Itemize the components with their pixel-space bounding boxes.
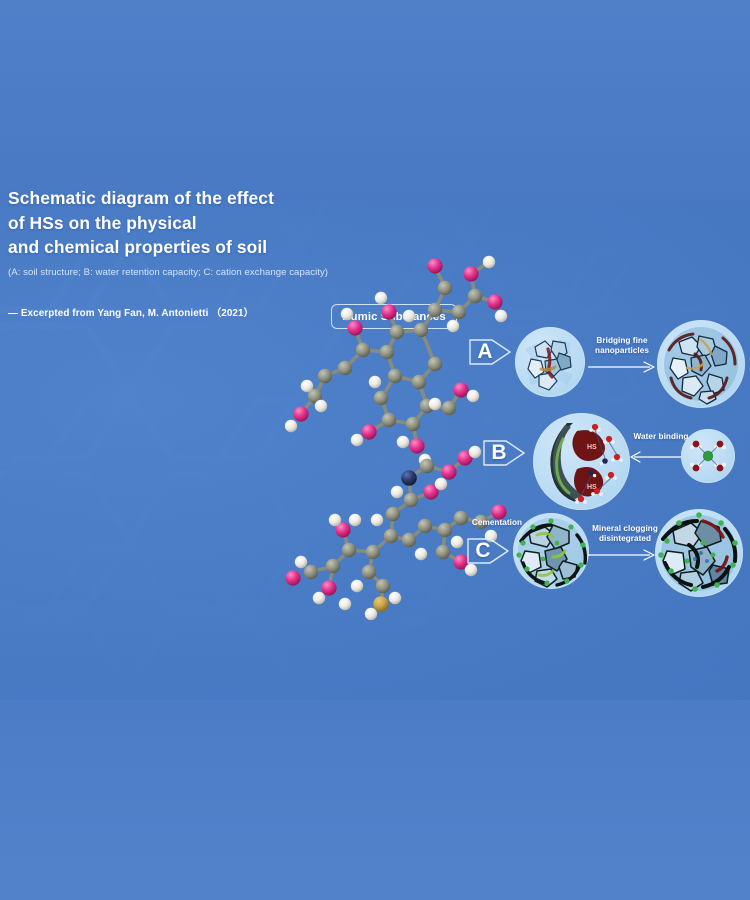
step-letter-c: C: [473, 537, 493, 565]
flow-label-cementation: Cementation: [466, 518, 528, 528]
flow-label-mineral-clogging-disintegrated: Mineral clogging disintegrated: [586, 524, 664, 544]
poster-canvas: Schematic diagram of the effect of HSs o…: [0, 0, 750, 900]
circle-cemented-mineral-cluster: [513, 513, 589, 589]
circle-disintegrated-mineral-cluster: [655, 509, 743, 597]
diagram-row-c: Cementation C: [0, 0, 750, 900]
step-badge-c[interactable]: C: [466, 530, 512, 572]
flow-arrow-c-right: [588, 548, 658, 562]
